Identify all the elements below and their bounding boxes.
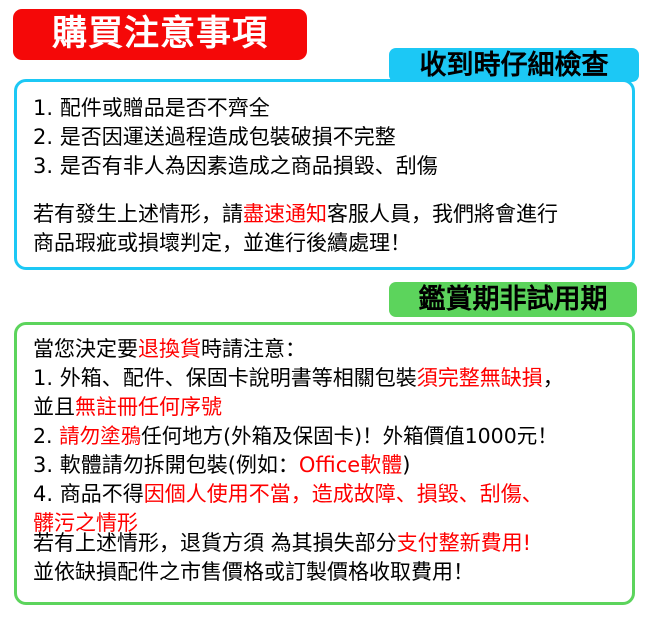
text-run: ) [402,453,410,477]
list-item: 1. 配件或贈品是否不齊全 [17,94,632,123]
text-run: 客服人員，我們將會進行 [327,202,558,226]
purchase-notice-title-badge: 購買注意事項 [13,9,307,60]
list-item: 並且無註冊任何序號 [17,393,632,422]
return-policy-paragraph: 若有上述情形，退貨方須 為其損失部分支付整新費用! 並依缺損配件之市售價格或訂製… [17,529,632,587]
text-run: 3. 軟體請勿拆開包裝(例如： [33,453,299,477]
return-policy-list: 當您決定要退換貨時請注意： 1. 外箱、配件、保固卡說明書等相關包裝須完整無缺損… [17,335,632,538]
text-run-highlight: 支付整新費用! [397,531,531,555]
text-run-highlight: Office軟體 [299,453,402,477]
paragraph-line: 若有上述情形，退貨方須 為其損失部分支付整新費用! [17,529,632,558]
purchase-notice-title-text: 購買注意事項 [52,17,268,52]
paragraph-line: 並依缺損配件之市售價格或訂製價格收取費用！ [17,558,632,587]
text-run-highlight: 因個人使用不當，造成故障、損毀、刮傷、 [144,482,543,506]
text-run-highlight: 無註冊任何序號 [75,395,222,419]
text-run: 並且 [33,395,75,419]
list-item: 1. 外箱、配件、保固卡說明書等相關包裝須完整無缺損， [17,364,632,393]
list-item: 當您決定要退換貨時請注意： [17,335,632,364]
text-run: 1. 外箱、配件、保固卡說明書等相關包裝 [33,366,417,390]
text-run: ， [543,366,564,390]
cooling-off-period-badge-text: 鑑賞期非試用期 [419,286,608,313]
purchase-notice-box: 1. 配件或贈品是否不齊全 2. 是否因運送過程造成包裝破損不完整 3. 是否有… [14,79,635,270]
inspect-on-receipt-badge-text: 收到時仔細檢查 [420,52,609,79]
text-run-highlight: 盡速通知 [243,202,327,226]
text-run: 時請注意： [201,337,306,361]
page-root: { "sections": [ { "id": "purchase-notice… [0,0,650,622]
text-run: 若有上述情形，退貨方須 為其損失部分 [33,531,397,555]
text-run: 4. 商品不得 [33,482,144,506]
cooling-off-period-badge: 鑑賞期非試用期 [389,282,637,317]
inspect-on-receipt-badge: 收到時仔細檢查 [389,48,639,82]
text-run: 若有發生上述情形，請 [33,202,243,226]
text-run-highlight: 退換貨 [138,337,201,361]
paragraph-line: 若有發生上述情形，請盡速通知客服人員，我們將會進行 [17,200,632,229]
text-run: 任何地方(外箱及保固卡)！外箱價值1000元！ [141,424,558,448]
return-policy-box: 當您決定要退換貨時請注意： 1. 外箱、配件、保固卡說明書等相關包裝須完整無缺損… [14,322,635,605]
list-item: 3. 是否有非人為因素造成之商品損毀、刮傷 [17,152,632,181]
text-run: 並依缺損配件之市售價格或訂製價格收取費用！ [33,560,474,584]
text-run: 當您決定要 [33,337,138,361]
text-run-highlight: 請勿塗鴉 [59,424,141,448]
paragraph-line: 商品瑕疵或損壞判定，並進行後續處理！ [17,229,632,258]
purchase-notice-checklist: 1. 配件或贈品是否不齊全 2. 是否因運送過程造成包裝破損不完整 3. 是否有… [17,94,632,181]
list-item: 3. 軟體請勿拆開包裝(例如：Office軟體) [17,451,632,480]
text-run: 商品瑕疵或損壞判定，並進行後續處理！ [33,231,411,255]
list-item: 2. 請勿塗鴉任何地方(外箱及保固卡)！外箱價值1000元！ [17,422,632,451]
purchase-notice-paragraph: 若有發生上述情形，請盡速通知客服人員，我們將會進行 商品瑕疵或損壞判定，並進行後… [17,200,632,258]
text-run-highlight: 須完整無缺損 [417,366,543,390]
text-run: 2. [33,424,59,448]
list-item: 4. 商品不得因個人使用不當，造成故障、損毀、刮傷、 [17,480,632,509]
list-item: 2. 是否因運送過程造成包裝破損不完整 [17,123,632,152]
